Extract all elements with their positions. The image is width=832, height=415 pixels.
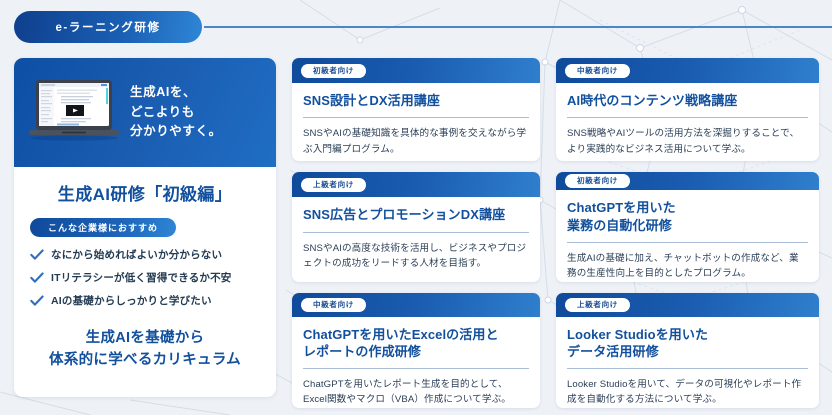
course-card-ai-content-strategy[interactable]: 中級者向け AI時代のコンテンツ戦略講座 SNS戦略やAIツールの活用方法を深掘… [556, 58, 819, 161]
course-card-header: 初級者向け [292, 58, 540, 83]
content-stage: 生成AIを、 どこよりも 分かりやすく。 生成AI研修「初級編」 こんな企業様に… [14, 58, 820, 408]
list-item: ITリテラシーが低く習得できるか不安 [30, 270, 232, 285]
course-card-chatgpt-excel[interactable]: 中級者向け ChatGPTを用いたExcelの活用と レポートの作成研修 Cha… [292, 293, 540, 408]
check-icon [30, 272, 44, 284]
course-card-body: ChatGPTを用いたExcelの活用と レポートの作成研修 ChatGPTを用… [292, 317, 540, 408]
list-item-label: ITリテラシーが低く習得できるか不安 [51, 270, 232, 285]
course-card-header: 中級者向け [556, 58, 819, 83]
course-title: Looker Studioを用いた データ活用研修 [567, 326, 808, 360]
recommend-check-list: なにから始めればよいか分からない ITリテラシーが低く習得できるか不安 AIの基… [30, 247, 232, 316]
course-title-line: SNS広告とプロモーションDX講座 [303, 206, 529, 223]
section-divider-rule [204, 26, 832, 28]
course-column-right: 中級者向け AI時代のコンテンツ戦略講座 SNS戦略やAIツールの活用方法を深掘… [556, 58, 819, 408]
check-icon [30, 249, 44, 261]
section-header: e-ラーニング研修 [14, 11, 832, 43]
level-badge: 上級者向け [301, 178, 366, 192]
hero-catch-line-3: 分かりやすく。 [130, 122, 222, 141]
course-description: Looker Studioを用いて、データの可視化やレポート作成を自動化する方法… [567, 377, 808, 408]
hero-catch-line-1: 生成AIを、 [130, 83, 222, 102]
course-card-header: 中級者向け [292, 293, 540, 317]
list-item: なにから始めればよいか分からない [30, 247, 232, 262]
hero-closing-copy: 生成AIを基礎から 体系的に学べるカリキュラム [49, 328, 241, 372]
course-card-body: AI時代のコンテンツ戦略講座 SNS戦略やAIツールの活用方法を深掘りすることで… [556, 83, 819, 161]
course-card-sns-ads[interactable]: 上級者向け SNS広告とプロモーションDX講座 SNSやAIの高度な技術を活用し… [292, 172, 540, 281]
level-badge: 上級者向け [565, 298, 630, 312]
course-title: ChatGPTを用いたExcelの活用と レポートの作成研修 [303, 326, 529, 360]
hero-closing-line-2: 体系的に学べるカリキュラム [49, 350, 241, 372]
course-card-header: 初級者向け [556, 172, 819, 190]
level-badge: 初級者向け [565, 174, 630, 188]
hero-catch-line-2: どこよりも [130, 103, 222, 122]
course-description: SNS戦略やAIツールの活用方法を深掘りすることで、より実践的なビジネス活用につ… [567, 126, 808, 157]
course-card-chatgpt-automation[interactable]: 初級者向け ChatGPTを用いた 業務の自動化研修 生成AIの基礎に加え、チャ… [556, 172, 819, 281]
course-title: SNS広告とプロモーションDX講座 [303, 206, 529, 223]
check-icon [30, 295, 44, 307]
course-title-line: ChatGPTを用いたExcelの活用と [303, 326, 529, 343]
course-title: SNS設計とDX活用講座 [303, 92, 529, 109]
course-divider [303, 368, 529, 369]
course-title: AI時代のコンテンツ戦略講座 [567, 92, 808, 109]
hero-catchcopy: 生成AIを、 どこよりも 分かりやすく。 [130, 83, 222, 141]
course-card-body: ChatGPTを用いた 業務の自動化研修 生成AIの基礎に加え、チャットボットの… [556, 190, 819, 281]
list-item-label: AIの基礎からしっかりと学びたい [51, 293, 212, 308]
course-divider [567, 368, 808, 369]
course-card-sns-design[interactable]: 初級者向け SNS設計とDX活用講座 SNSやAIの基礎知識を具体的な事例を交え… [292, 58, 540, 161]
level-badge: 中級者向け [301, 298, 366, 312]
course-title-line: AI時代のコンテンツ戦略講座 [567, 92, 808, 109]
course-title-line: SNS設計とDX活用講座 [303, 92, 529, 109]
course-title-line: レポートの作成研修 [303, 343, 529, 360]
course-card-body: SNS広告とプロモーションDX講座 SNSやAIの高度な技術を活用し、ビジネスや… [292, 197, 540, 281]
course-card-header: 上級者向け [292, 172, 540, 197]
course-card-looker-studio[interactable]: 上級者向け Looker Studioを用いた データ活用研修 Looker S… [556, 293, 819, 408]
course-description: SNSやAIの高度な技術を活用し、ビジネスやプロジェクトの成功をリードする人材を… [303, 241, 529, 272]
section-tag-pill: e-ラーニング研修 [14, 11, 202, 43]
hero-title: 生成AI研修「初級編」 [58, 180, 232, 205]
course-card-header: 上級者向け [556, 293, 819, 317]
course-title-line: データ活用研修 [567, 343, 808, 360]
course-title-line: ChatGPTを用いた [567, 199, 808, 216]
level-badge: 初級者向け [301, 64, 366, 78]
course-divider [303, 232, 529, 233]
course-card-body: Looker Studioを用いた データ活用研修 Looker Studioを… [556, 317, 819, 408]
course-divider [567, 117, 808, 118]
hero-column: 生成AIを、 どこよりも 分かりやすく。 生成AI研修「初級編」 こんな企業様に… [14, 58, 276, 408]
hero-closing-line-1: 生成AIを基礎から [49, 328, 241, 350]
course-divider [567, 242, 808, 243]
hero-banner: 生成AIを、 どこよりも 分かりやすく。 [14, 58, 276, 167]
course-title: ChatGPTを用いた 業務の自動化研修 [567, 199, 808, 233]
course-description: 生成AIの基礎に加え、チャットボットの作成など、業務の生産性向上を目的としたプロ… [567, 251, 808, 282]
course-description: SNSやAIの基礎知識を具体的な事例を交えながら学ぶ入門編プログラム。 [303, 126, 529, 157]
level-badge: 中級者向け [565, 64, 630, 78]
laptop-icon [26, 77, 122, 148]
list-item-label: なにから始めればよいか分からない [51, 247, 222, 262]
course-title-line: Looker Studioを用いた [567, 326, 808, 343]
course-card-body: SNS設計とDX活用講座 SNSやAIの基礎知識を具体的な事例を交えながら学ぶ入… [292, 83, 540, 161]
course-column-middle: 初級者向け SNS設計とDX活用講座 SNSやAIの基礎知識を具体的な事例を交え… [292, 58, 540, 408]
recommend-pill: こんな企業様におすすめ [30, 218, 176, 237]
course-divider [303, 117, 529, 118]
list-item: AIの基礎からしっかりと学びたい [30, 293, 232, 308]
course-description: ChatGPTを用いたレポート生成を目的として、Excel関数やマクロ（VBA）… [303, 377, 529, 408]
hero-body: 生成AI研修「初級編」 こんな企業様におすすめ なにから始めればよいか分からない… [14, 167, 276, 397]
hero-card[interactable]: 生成AIを、 どこよりも 分かりやすく。 生成AI研修「初級編」 こんな企業様に… [14, 58, 276, 397]
course-title-line: 業務の自動化研修 [567, 217, 808, 234]
